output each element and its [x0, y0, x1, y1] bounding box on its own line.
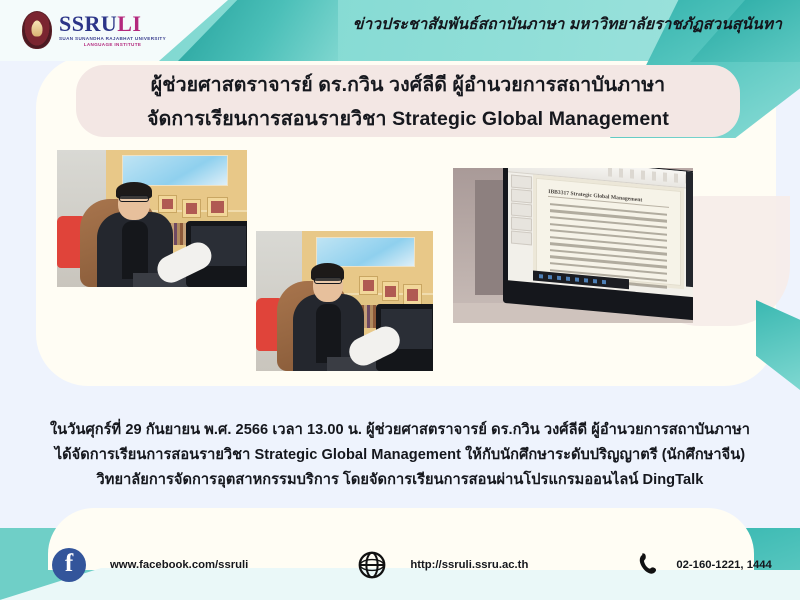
- body-line-3: วิทยาลัยการจัดการอุตสาหกรรมบริการ โดยจัด…: [0, 468, 800, 493]
- logo-subtitle-institute: LANGUAGE INSTITUTE: [59, 43, 166, 48]
- person-glasses: [119, 195, 149, 202]
- decor-teal-wedge-right: [756, 300, 800, 390]
- university-crest-icon: [22, 11, 52, 49]
- person-glasses: [314, 277, 342, 284]
- person-shirt: [122, 221, 149, 279]
- slide-bullet-lines: [550, 203, 668, 277]
- active-slide: IBB3317 Strategic Global Management: [536, 179, 682, 287]
- video-call-participant-panel: [687, 172, 693, 288]
- photo-director-at-desk: [57, 150, 247, 287]
- footer-facebook-link[interactable]: www.facebook.com/ssruli: [52, 548, 248, 582]
- announcement-body: ในวันศุกร์ที่ 29 กันยายน พ.ศ. 2566 เวลา …: [0, 418, 800, 493]
- facebook-icon: [52, 548, 86, 582]
- office-photo-frame: [382, 281, 400, 301]
- screen-scene: IBB3317 Strategic Global Management: [453, 168, 693, 323]
- person-shirt: [316, 304, 341, 363]
- footer-phone-info[interactable]: 02-160-1221, 1444: [636, 552, 771, 578]
- logo-wordmark: SSRULI SUAN SUNANDHA RAJABHAT UNIVERSITY…: [59, 13, 166, 47]
- website-label: http://ssruli.ssru.ac.th: [410, 559, 528, 571]
- office-scene: [256, 231, 433, 371]
- ssruli-logo: SSRULI SUAN SUNANDHA RAJABHAT UNIVERSITY…: [22, 8, 166, 52]
- logo-main-part2: LI: [117, 11, 141, 36]
- phone-icon: [636, 552, 656, 578]
- office-photo-frame: [158, 195, 177, 213]
- title-line-2: จัดการเรียนการสอนรายวิชา Strategic Globa…: [147, 103, 669, 134]
- poster-canvas: SSRULI SUAN SUNANDHA RAJABHAT UNIVERSITY…: [0, 0, 800, 600]
- title-line-1: ผู้ช่วยศาสตราจารย์ ดร.กวิน วงศ์ลีดี ผู้อ…: [151, 69, 665, 100]
- office-photo-frame: [403, 284, 422, 305]
- header-banner-text: ข่าวประชาสัมพันธ์สถาบันภาษา มหาวิทยาลัยร…: [353, 11, 782, 36]
- presentation-app-window: IBB3317 Strategic Global Management: [508, 168, 693, 299]
- logo-main-part1: SSRU: [59, 11, 117, 36]
- globe-icon: [358, 551, 386, 579]
- photo-director-portrait: [256, 231, 433, 371]
- office-wall-poster: [122, 155, 228, 185]
- office-photo-frame: [182, 199, 201, 218]
- computer-monitor: IBB3317 Strategic Global Management: [503, 168, 693, 321]
- footer-contact-bar: www.facebook.com/ssruli http://ssruli.ss…: [0, 540, 800, 590]
- title-panel: ผู้ช่วยศาสตราจารย์ ดร.กวิน วงศ์ลีดี ผู้อ…: [76, 65, 740, 137]
- office-photo-frame: [359, 276, 378, 296]
- slide-thumbnail-panel: [511, 175, 532, 274]
- logo-main-text: SSRULI: [59, 13, 166, 35]
- office-photo-frame: [207, 197, 228, 218]
- office-scene: [57, 150, 247, 287]
- logo-subtitle-university: SUAN SUNANDHA RAJABHAT UNIVERSITY: [59, 37, 166, 42]
- phone-label: 02-160-1221, 1444: [676, 559, 771, 571]
- body-line-1: ในวันศุกร์ที่ 29 กันยายน พ.ศ. 2566 เวลา …: [0, 418, 800, 443]
- footer-website-link[interactable]: http://ssruli.ssru.ac.th: [358, 551, 528, 579]
- photo-monitor-presentation: IBB3317 Strategic Global Management: [453, 168, 693, 323]
- facebook-label: www.facebook.com/ssruli: [110, 559, 248, 571]
- body-line-2: ได้จัดการเรียนการสอนรายวิชา Strategic Gl…: [0, 443, 800, 468]
